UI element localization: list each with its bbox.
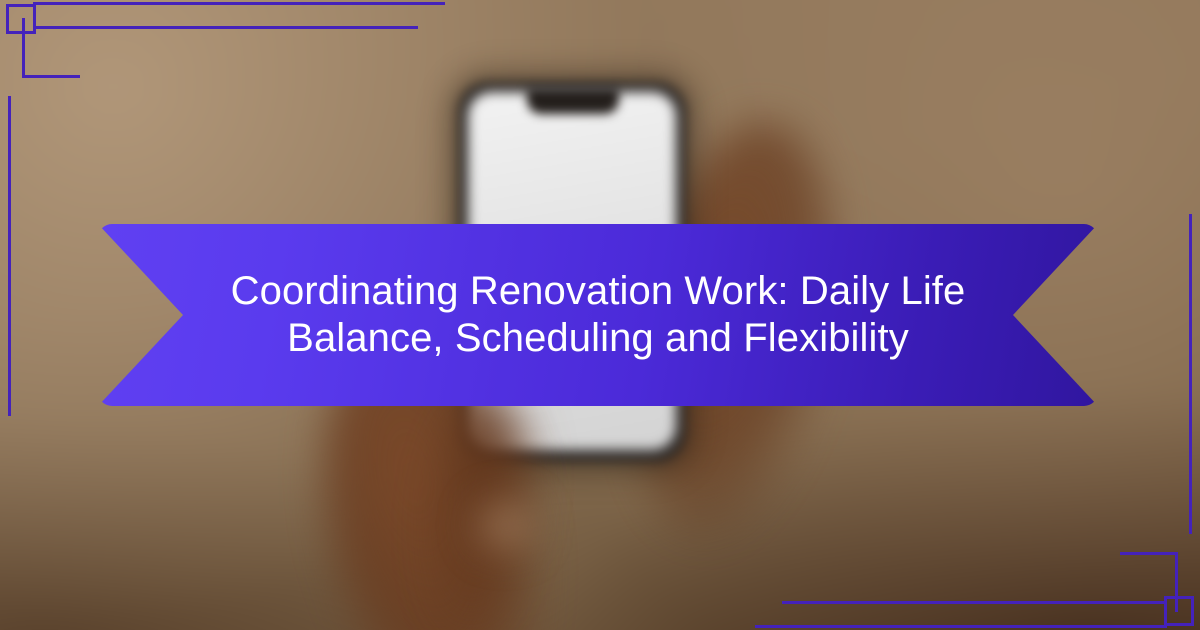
ornament-bracket-vertical [22, 18, 25, 78]
ornament-bottom-line-outer [755, 625, 1167, 628]
ornament-square-icon [6, 4, 36, 34]
hand-highlight [470, 495, 540, 555]
title-line-1: Coordinating Renovation Work: Daily Life [231, 268, 966, 315]
ornament-long-vertical-line [8, 96, 11, 416]
ornament-bottom-line-inner [782, 601, 1167, 604]
social-card: Coordinating Renovation Work: Daily Life… [0, 0, 1200, 630]
ornament-bracket-vertical [1175, 552, 1178, 612]
page-title: Coordinating Renovation Work: Daily Life… [98, 224, 1098, 406]
smartphone-notch [527, 88, 619, 114]
ornament-bracket-horizontal [1120, 552, 1178, 555]
ornament-bracket-horizontal [22, 75, 80, 78]
ornament-square-icon [1164, 596, 1194, 626]
ornament-long-vertical-line [1189, 214, 1192, 534]
title-line-2: Balance, Scheduling and Flexibility [287, 315, 909, 362]
ornament-top-line-outer [33, 2, 445, 5]
ornament-top-line-inner [33, 26, 418, 29]
